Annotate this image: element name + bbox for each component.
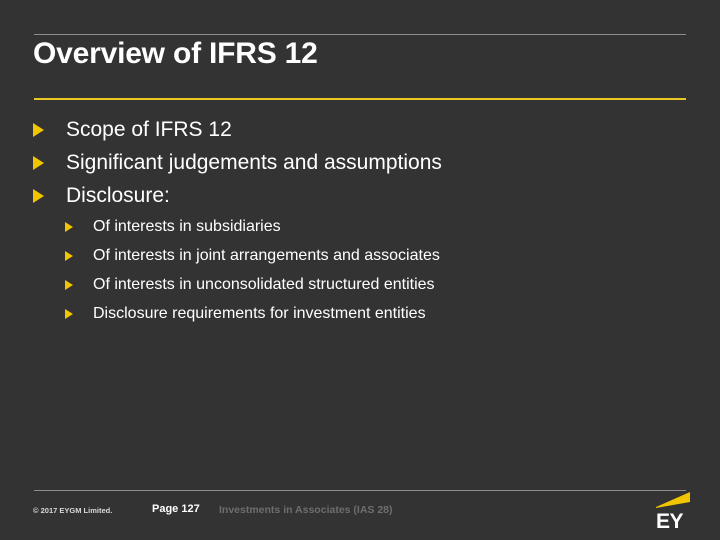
ey-logo: EY: [652, 489, 710, 533]
triangle-bullet-icon: [65, 251, 73, 261]
page-title: Overview of IFRS 12: [33, 37, 318, 71]
title-accent-divider: [34, 98, 686, 100]
triangle-bullet-icon: [33, 123, 44, 137]
deck-subtitle: Investments in Associates (IAS 28): [219, 504, 393, 516]
list-item-label: Significant judgements and assumptions: [66, 146, 720, 179]
list-item: Scope of IFRS 12: [0, 113, 720, 146]
ey-wordmark: EY: [656, 510, 684, 533]
copyright-text: © 2017 EYGM Limited.: [33, 506, 112, 515]
sub-list-item-label: Disclosure requirements for investment e…: [93, 299, 720, 328]
triangle-bullet-icon: [65, 222, 73, 232]
page-number: Page 127: [152, 503, 200, 515]
sub-list-item: Of interests in joint arrangements and a…: [0, 241, 720, 270]
list-item-label: Disclosure:: [66, 179, 720, 212]
sub-list-item: Of interests in unconsolidated structure…: [0, 270, 720, 299]
list-item-label: Scope of IFRS 12: [66, 113, 720, 146]
sub-list-item-label: Of interests in subsidiaries: [93, 212, 720, 241]
sub-list-item: Of interests in subsidiaries: [0, 212, 720, 241]
slide: Overview of IFRS 12 Scope of IFRS 12 Sig…: [0, 0, 720, 540]
list-item: Disclosure:: [0, 179, 720, 212]
ey-beam-icon: [656, 492, 690, 508]
sub-list-item-label: Of interests in joint arrangements and a…: [93, 241, 720, 270]
sub-list-item: Disclosure requirements for investment e…: [0, 299, 720, 328]
list-item: Significant judgements and assumptions: [0, 146, 720, 179]
header-divider: [34, 34, 686, 35]
sub-list-item-label: Of interests in unconsolidated structure…: [93, 270, 720, 299]
triangle-bullet-icon: [65, 309, 73, 319]
triangle-bullet-icon: [33, 189, 44, 203]
footer-divider: [34, 490, 686, 491]
triangle-bullet-icon: [33, 156, 44, 170]
bullet-list: Scope of IFRS 12 Significant judgements …: [0, 113, 720, 328]
triangle-bullet-icon: [65, 280, 73, 290]
